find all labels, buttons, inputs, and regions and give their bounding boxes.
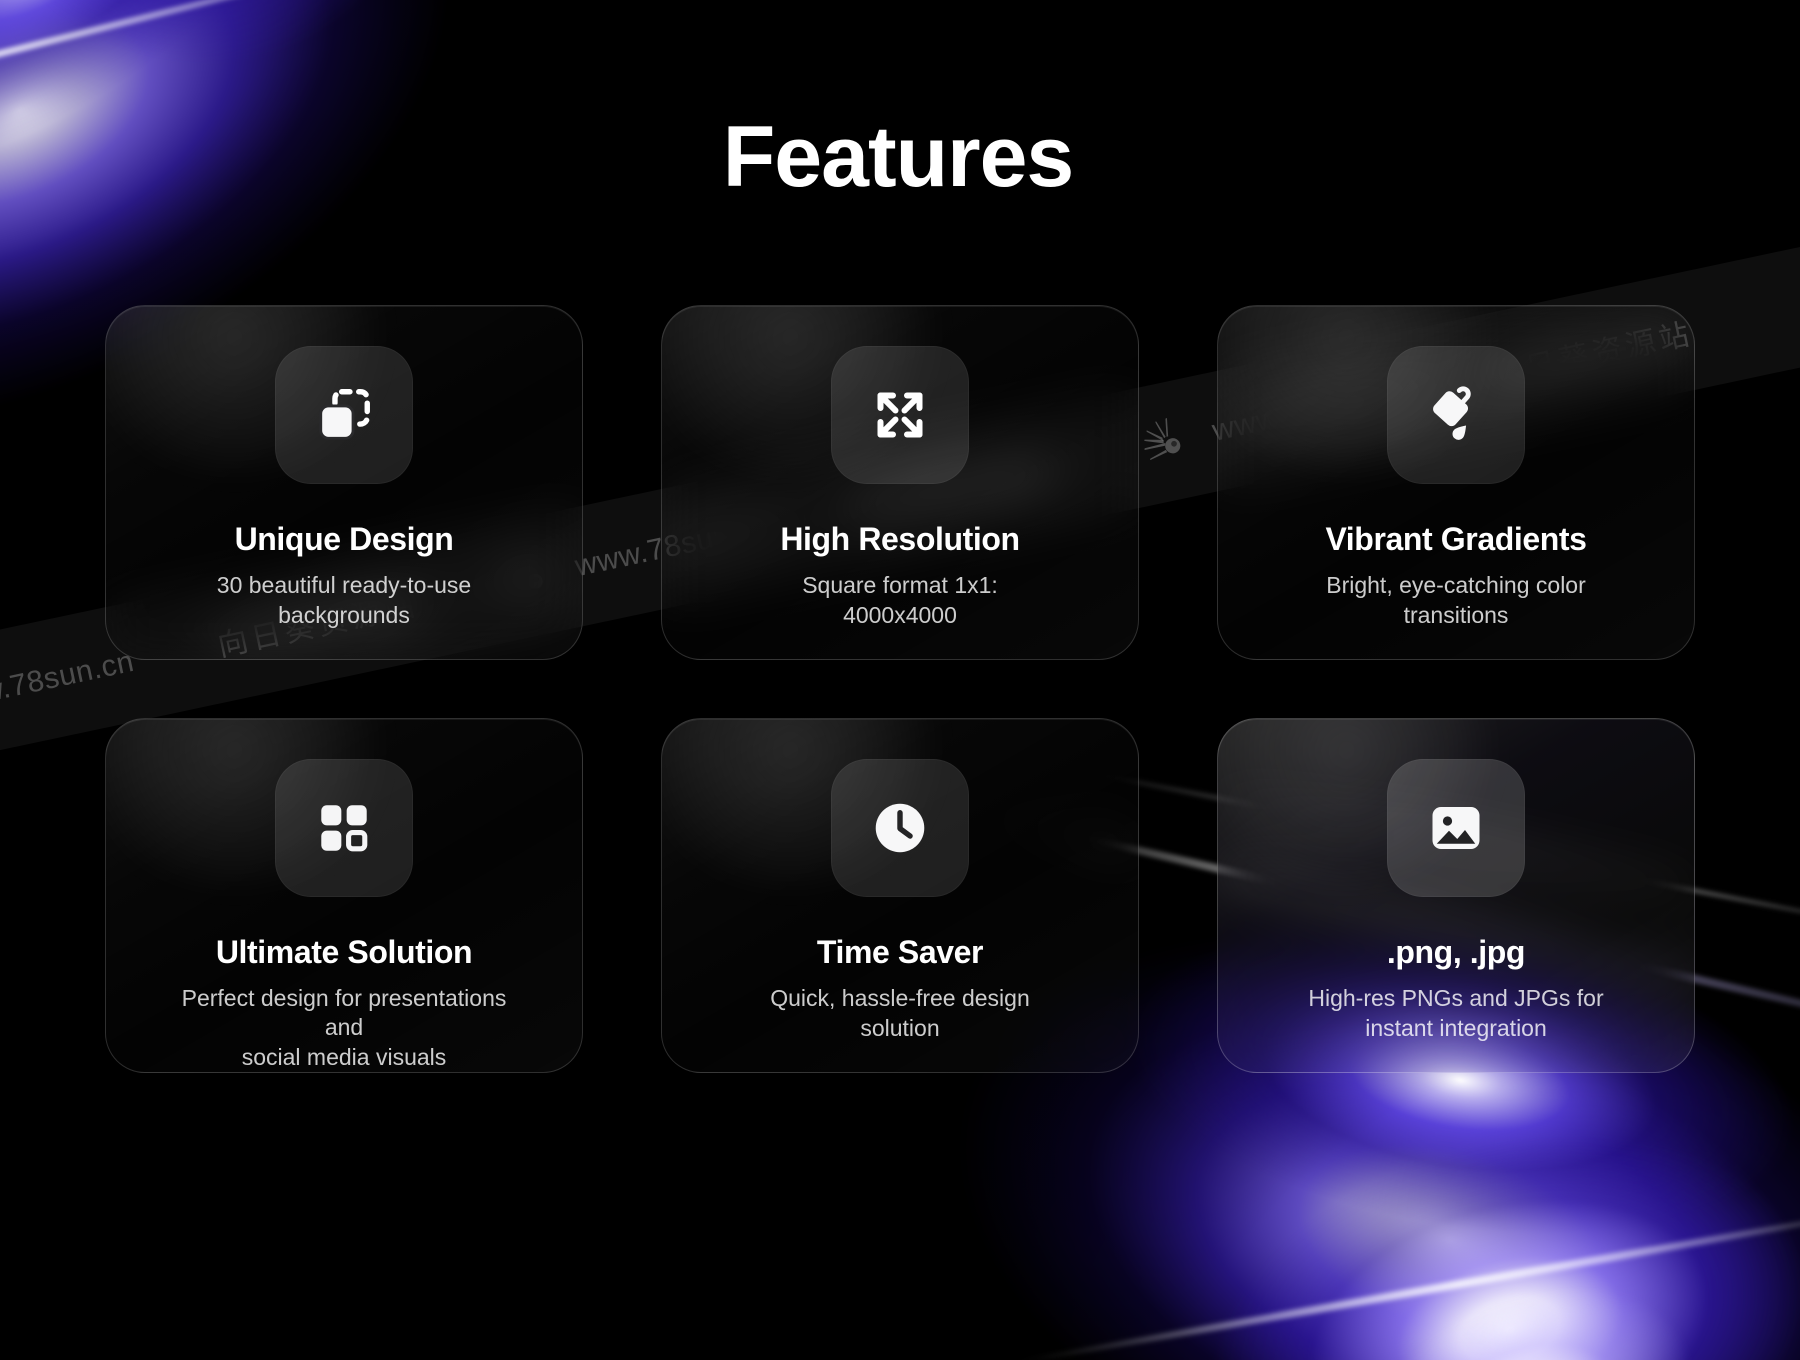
duplicate-icon	[313, 384, 375, 446]
clock-icon	[869, 797, 931, 859]
icon-tile	[831, 759, 969, 897]
page-title: Features	[0, 108, 1798, 207]
feature-card-time-saver[interactable]: Time Saver Quick, hassle-free design sol…	[661, 718, 1139, 1073]
expand-arrows-icon	[870, 385, 930, 445]
content-layer: Features Unique Design 30 beautiful read…	[0, 0, 1800, 1360]
feature-card-vibrant-gradients[interactable]: Vibrant Gradients Bright, eye-catching c…	[1217, 305, 1695, 660]
feature-card-high-resolution[interactable]: High Resolution Square format 1x1: 4000x…	[661, 305, 1139, 660]
icon-tile	[831, 346, 969, 484]
icon-tile	[275, 759, 413, 897]
card-description: 30 beautiful ready-to-use backgrounds	[217, 571, 471, 630]
card-description: Square format 1x1: 4000x4000	[802, 571, 998, 630]
card-description: High-res PNGs and JPGs for instant integ…	[1308, 984, 1603, 1043]
card-description: Quick, hassle-free design solution	[770, 984, 1030, 1043]
card-title: Unique Design	[235, 522, 454, 557]
feature-card-unique-design[interactable]: Unique Design 30 beautiful ready-to-use …	[105, 305, 583, 660]
icon-tile	[1387, 759, 1525, 897]
card-description: Perfect design for presentations and soc…	[179, 984, 509, 1072]
icon-tile	[1387, 346, 1525, 484]
grid-squares-icon	[315, 799, 373, 857]
features-grid: Unique Design 30 beautiful ready-to-use …	[105, 305, 1695, 1073]
card-title: Vibrant Gradients	[1325, 522, 1586, 557]
card-title: Time Saver	[817, 935, 983, 970]
feature-card-file-formats[interactable]: .png, .jpg High-res PNGs and JPGs for in…	[1217, 718, 1695, 1073]
card-description: Bright, eye-catching color transitions	[1326, 571, 1586, 630]
paint-bucket-icon	[1425, 384, 1487, 446]
slide-canvas: www.78sun.cn 向日葵资源站 www.78sun.cn 向日葵资源站	[0, 0, 1800, 1360]
feature-card-ultimate-solution[interactable]: Ultimate Solution Perfect design for pre…	[105, 718, 583, 1073]
image-photo-icon	[1426, 798, 1486, 858]
card-title: High Resolution	[780, 522, 1019, 557]
card-title: Ultimate Solution	[216, 935, 472, 970]
card-title: .png, .jpg	[1387, 935, 1525, 970]
icon-tile	[275, 346, 413, 484]
